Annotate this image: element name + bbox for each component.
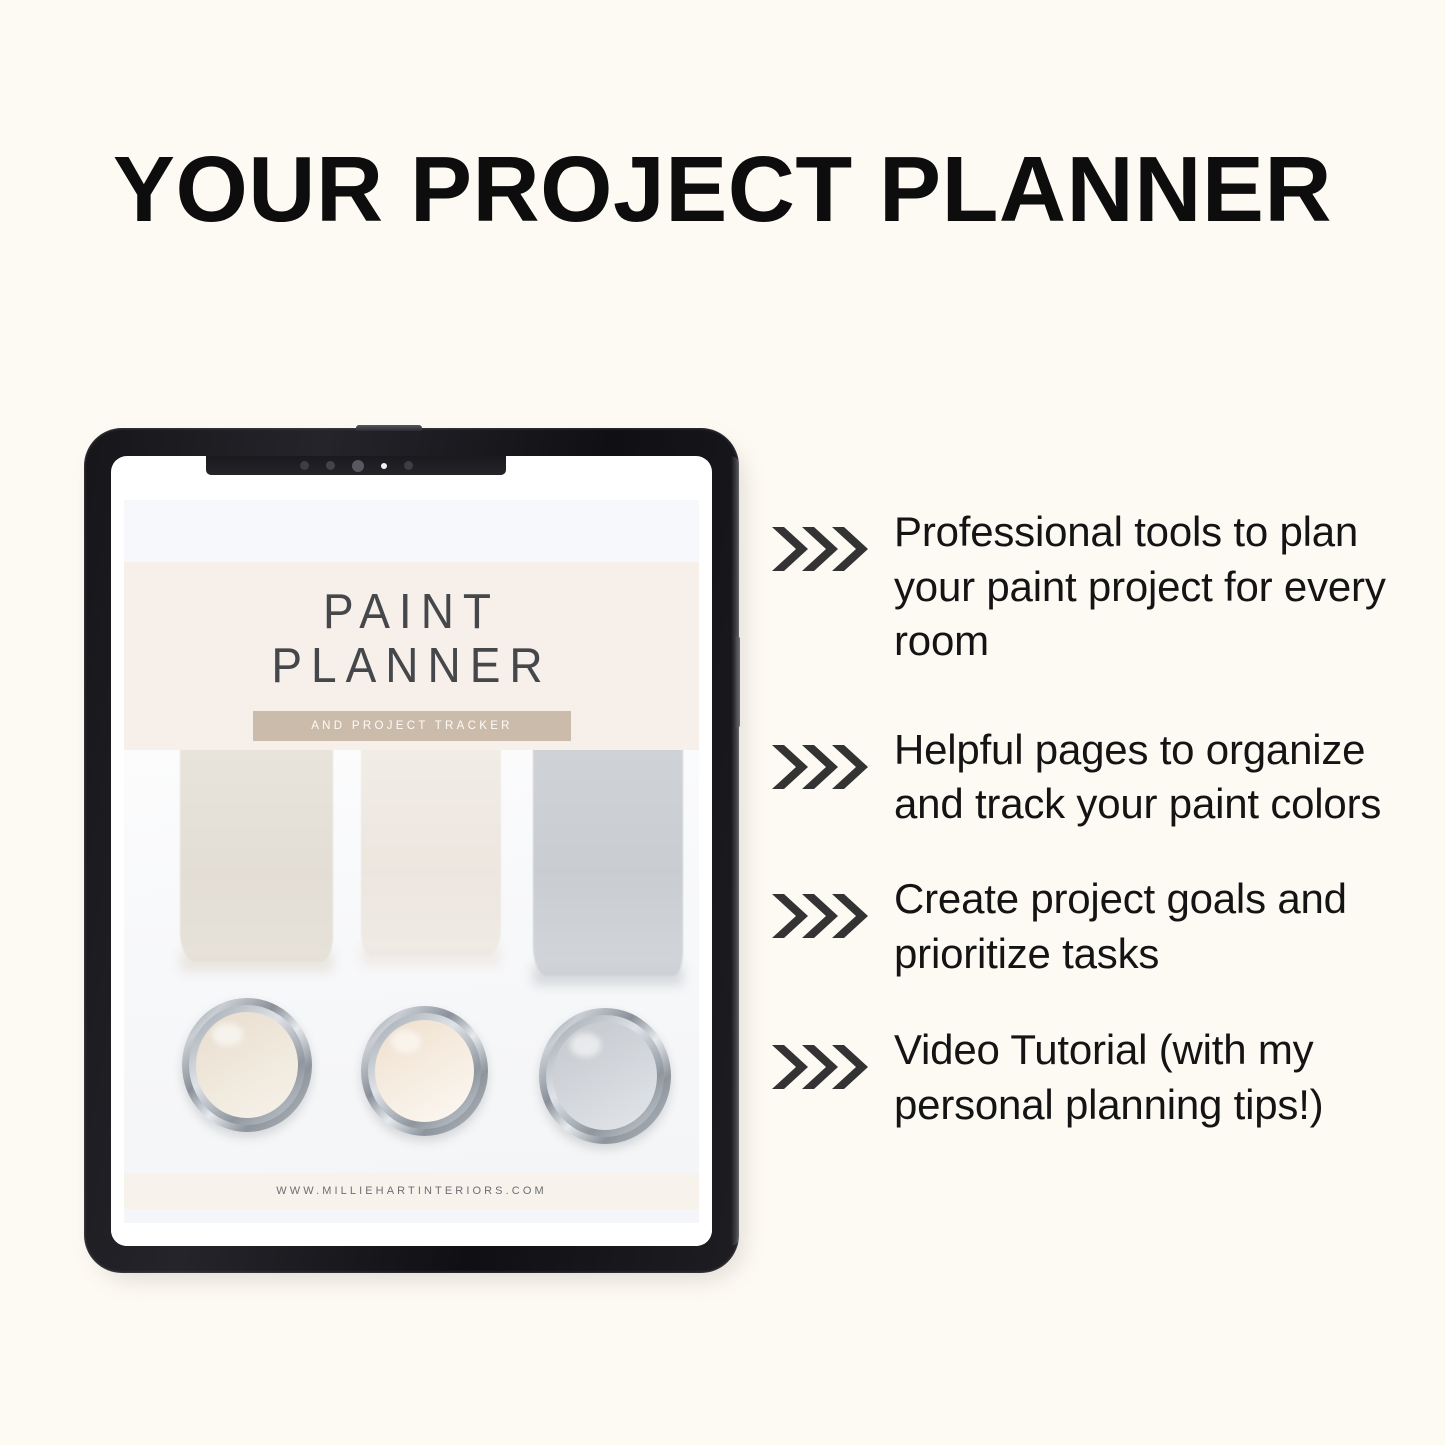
feature-item-4: Video Tutorial (with my personal plannin… [770,1023,1410,1132]
paint-gloss [391,1030,421,1052]
feature-item-1: Professional tools to plan your paint pr… [770,505,1410,669]
paint-can-cream [361,1006,488,1136]
paint-gloss [570,1033,601,1057]
feature-text: Professional tools to plan your paint pr… [894,505,1404,669]
promo-graphic-page: YOUR PROJECT PLANNER [0,0,1445,1445]
paint-can-fill [375,1020,474,1122]
cover-top-band [124,500,699,562]
cover-url-band: WWW.MILLIEHARTINTERIORS.COM [124,1173,699,1209]
pdf-cover-inner: PAINT PLANNER AND PROJECT TRACKER [124,500,699,1223]
cover-website-url: WWW.MILLIEHARTINTERIORS.COM [276,1185,547,1197]
pdf-cover-page: PAINT PLANNER AND PROJECT TRACKER [111,475,712,1246]
feature-text: Create project goals and prioritize task… [894,872,1404,981]
tablet-bezel: PAINT PLANNER AND PROJECT TRACKER [84,428,739,1273]
paint-can-fill [553,1022,657,1130]
cover-title-line-1: PAINT [323,582,500,640]
cover-photo [124,750,699,1173]
triple-chevron-right-icon [770,739,870,795]
power-button[interactable] [356,425,422,431]
feature-text: Video Tutorial (with my personal plannin… [894,1023,1404,1132]
paint-can-gray [539,1008,671,1144]
cover-title-line-2: PLANNER [271,637,551,695]
tablet-edge-highlight [731,456,739,1246]
page-title: YOUR PROJECT PLANNER [0,143,1445,236]
brush-stroke-cream [361,750,501,956]
tablet-mockup: PAINT PLANNER AND PROJECT TRACKER [84,428,750,1278]
cover-subtitle-text: AND PROJECT TRACKER [311,720,513,732]
sensor-dot-icon [326,461,335,470]
sensor-dot-icon [300,461,309,470]
sensor-dot-icon [404,461,413,470]
camera-sensor-bar [206,456,506,475]
triple-chevron-right-icon [770,888,870,944]
camera-lens-icon [352,460,364,472]
feature-text: Helpful pages to organize and track your… [894,723,1404,832]
triple-chevron-right-icon [770,521,870,577]
feature-item-3: Create project goals and prioritize task… [770,872,1410,981]
cover-subtitle-banner: AND PROJECT TRACKER [253,711,571,741]
paint-gloss [212,1023,243,1046]
feature-list: Professional tools to plan your paint pr… [770,505,1410,1168]
brush-stroke-greige [180,750,333,962]
feature-item-2: Helpful pages to organize and track your… [770,723,1410,832]
volume-button[interactable] [735,636,740,728]
tablet-screen[interactable]: PAINT PLANNER AND PROJECT TRACKER [111,456,712,1246]
paint-can-fill [196,1012,298,1118]
indicator-light-icon [381,463,387,469]
cover-bottom-strip [124,1209,699,1223]
paint-can-greige [182,998,312,1132]
brush-stroke-gray [533,750,683,976]
triple-chevron-right-icon [770,1039,870,1095]
